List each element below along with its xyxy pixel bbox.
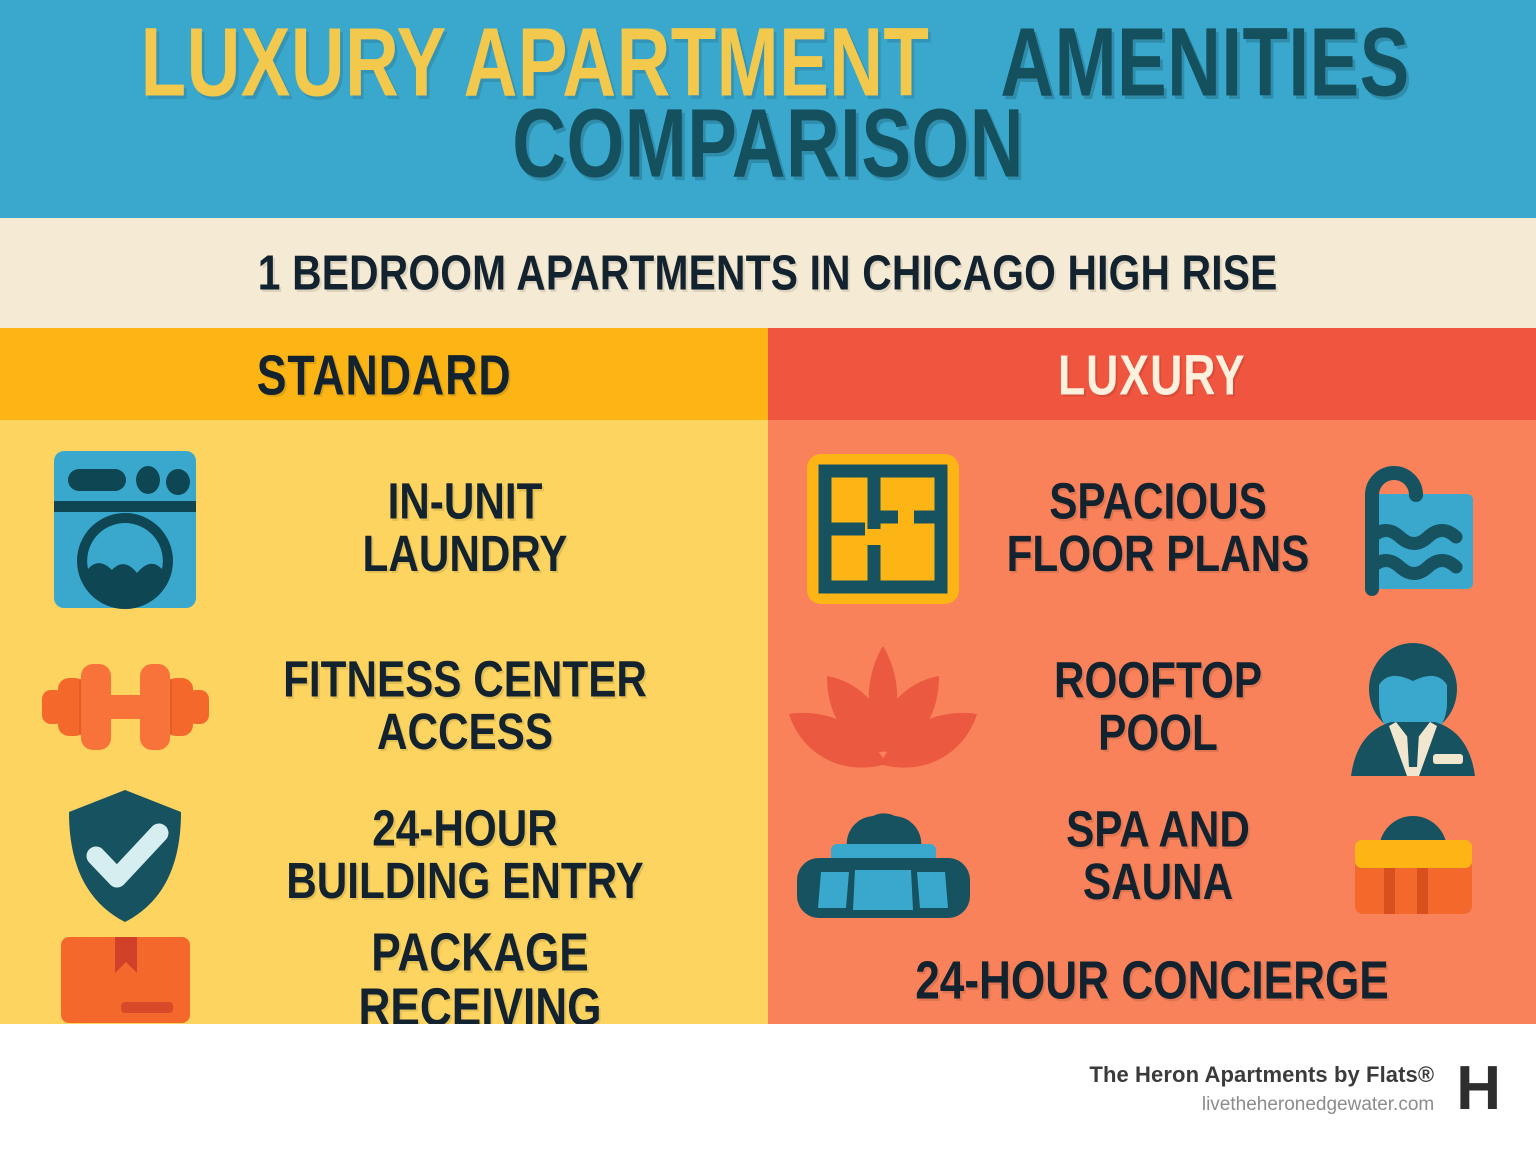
- amenity-row-spacious-floor-plans: SPACIOUS FLOOR PLANS: [768, 434, 1536, 624]
- dumbbell-icon: [0, 632, 250, 782]
- amenity-label-line-1: IN-UNIT: [259, 477, 672, 529]
- title-amenities: AMENITIES: [1000, 16, 1409, 110]
- washing-machine-icon: [0, 434, 250, 624]
- amenity-label-line-1: 24-HOUR: [259, 804, 672, 856]
- subtitle-bar: 1 BEDROOM APARTMENTS IN CHICAGO HIGH RIS…: [0, 218, 1536, 328]
- floor-plan-icon: [768, 434, 998, 624]
- amenity-label-in-unit-laundry: IN-UNIT LAUNDRY: [259, 477, 672, 581]
- footer-website-url[interactable]: livetheheronedgewater.com: [1089, 1094, 1434, 1116]
- luggage-bag-icon: [1318, 782, 1508, 932]
- infographic-root: LUXURY APARTMENTAMENITIES COMPARISON 1 B…: [0, 0, 1536, 1154]
- amenity-label-line-2: BUILDING ENTRY: [259, 856, 672, 908]
- amenity-label-fitness-center: FITNESS CENTER ACCESS: [259, 655, 672, 759]
- amenity-label-building-entry: 24-HOUR BUILDING ENTRY: [259, 804, 672, 908]
- footer-text-block: The Heron Apartments by Flats® livethehe…: [1089, 1062, 1434, 1116]
- amenity-label-line-2: ACCESS: [259, 707, 672, 759]
- amenity-label-line-1: PACKAGE RECEIVING: [259, 926, 701, 1035]
- amenity-row-spa-and-sauna: SPA AND SAUNA: [768, 782, 1536, 932]
- sauna-stones-icon: [768, 782, 998, 932]
- footer: The Heron Apartments by Flats® livethehe…: [0, 1024, 1536, 1154]
- amenity-label-line-2: POOL: [1004, 708, 1311, 760]
- lotus-flower-icon: [768, 628, 998, 788]
- amenity-label-line-1: FITNESS CENTER: [259, 655, 672, 707]
- title-comparison: COMPARISON: [512, 97, 1024, 191]
- column-body-standard: IN-UNIT LAUNDRY: [0, 420, 768, 1024]
- amenity-label-line-1: 24-HOUR CONCIERGE: [783, 953, 1520, 1007]
- amenity-label-rooftop-pool: ROOFTOP POOL: [1004, 656, 1311, 760]
- amenity-row-package-receiving: PACKAGE RECEIVING: [0, 925, 768, 1035]
- amenity-label-spa-and-sauna: SPA AND SAUNA: [1004, 805, 1311, 909]
- amenity-label-24-hour-concierge: 24-HOUR CONCIERGE: [783, 953, 1520, 1007]
- column-heading-standard-label: STANDARD: [257, 341, 512, 407]
- amenity-label-line-2: SAUNA: [1004, 857, 1311, 909]
- amenity-row-fitness-center: FITNESS CENTER ACCESS: [0, 632, 768, 782]
- amenity-label-line-1: SPA AND: [1004, 805, 1311, 857]
- amenity-row-building-entry: 24-HOUR BUILDING ENTRY: [0, 776, 768, 936]
- column-body-luxury: SPACIOUS FLOOR PLANS: [768, 420, 1536, 1024]
- swimming-pool-icon: [1318, 434, 1508, 624]
- amenity-label-spacious-floor-plans: SPACIOUS FLOOR PLANS: [1004, 477, 1311, 581]
- amenity-row-rooftop-pool: ROOFTOP POOL: [768, 628, 1536, 788]
- amenity-label-line-1: SPACIOUS: [1004, 477, 1311, 529]
- column-header-luxury: LUXURY: [768, 328, 1536, 420]
- footer-brand-name: The Heron Apartments by Flats®: [1089, 1062, 1434, 1088]
- amenity-label-package-receiving: PACKAGE RECEIVING: [259, 926, 701, 1035]
- header-banner: LUXURY APARTMENTAMENITIES COMPARISON: [0, 0, 1536, 218]
- amenity-label-line-1: ROOFTOP: [1004, 656, 1311, 708]
- column-heading-luxury-label: LUXURY: [1058, 341, 1246, 407]
- subtitle-text: 1 BEDROOM APARTMENTS IN CHICAGO HIGH RIS…: [258, 245, 1278, 302]
- package-box-icon: [0, 925, 250, 1035]
- main-title-line-2: COMPARISON: [493, 114, 1043, 191]
- column-luxury: LUXURY: [768, 328, 1536, 1024]
- shield-check-icon: [0, 776, 250, 936]
- amenity-label-line-2: FLOOR PLANS: [1004, 529, 1311, 581]
- comparison-columns: STANDARD: [0, 328, 1536, 1024]
- amenity-label-line-2: LAUNDRY: [259, 529, 672, 581]
- amenity-row-24-hour-concierge: 24-HOUR CONCIERGE: [768, 925, 1536, 1035]
- column-standard: STANDARD: [0, 328, 768, 1024]
- amenity-row-in-unit-laundry: IN-UNIT LAUNDRY: [0, 434, 768, 624]
- heron-logo-icon: H: [1456, 1058, 1500, 1120]
- column-header-standard: STANDARD: [0, 328, 768, 420]
- concierge-person-icon: [1318, 628, 1508, 788]
